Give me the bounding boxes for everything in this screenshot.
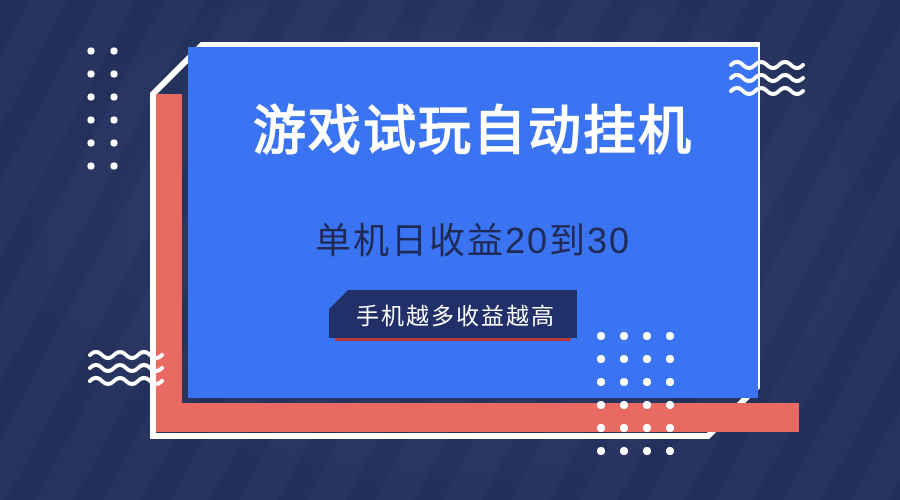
dot-grid-right-icon bbox=[595, 330, 682, 470]
tag-underline bbox=[335, 338, 571, 341]
wave-lines-right-icon bbox=[729, 58, 805, 103]
dot-grid-left-icon bbox=[85, 45, 125, 185]
highlight-tag: 手机越多收益越高 bbox=[329, 290, 577, 338]
banner-subtitle: 单机日收益20到30 bbox=[188, 212, 758, 264]
banner-title: 游戏试玩自动挂机 bbox=[188, 104, 758, 160]
wave-lines-left-icon bbox=[88, 348, 164, 393]
promo-banner: 游戏试玩自动挂机 单机日收益20到30 手机越多收益越高 bbox=[0, 0, 900, 500]
tag-label: 手机越多收益越高 bbox=[329, 290, 577, 338]
coral-accent-bar-bottom bbox=[156, 403, 799, 432]
